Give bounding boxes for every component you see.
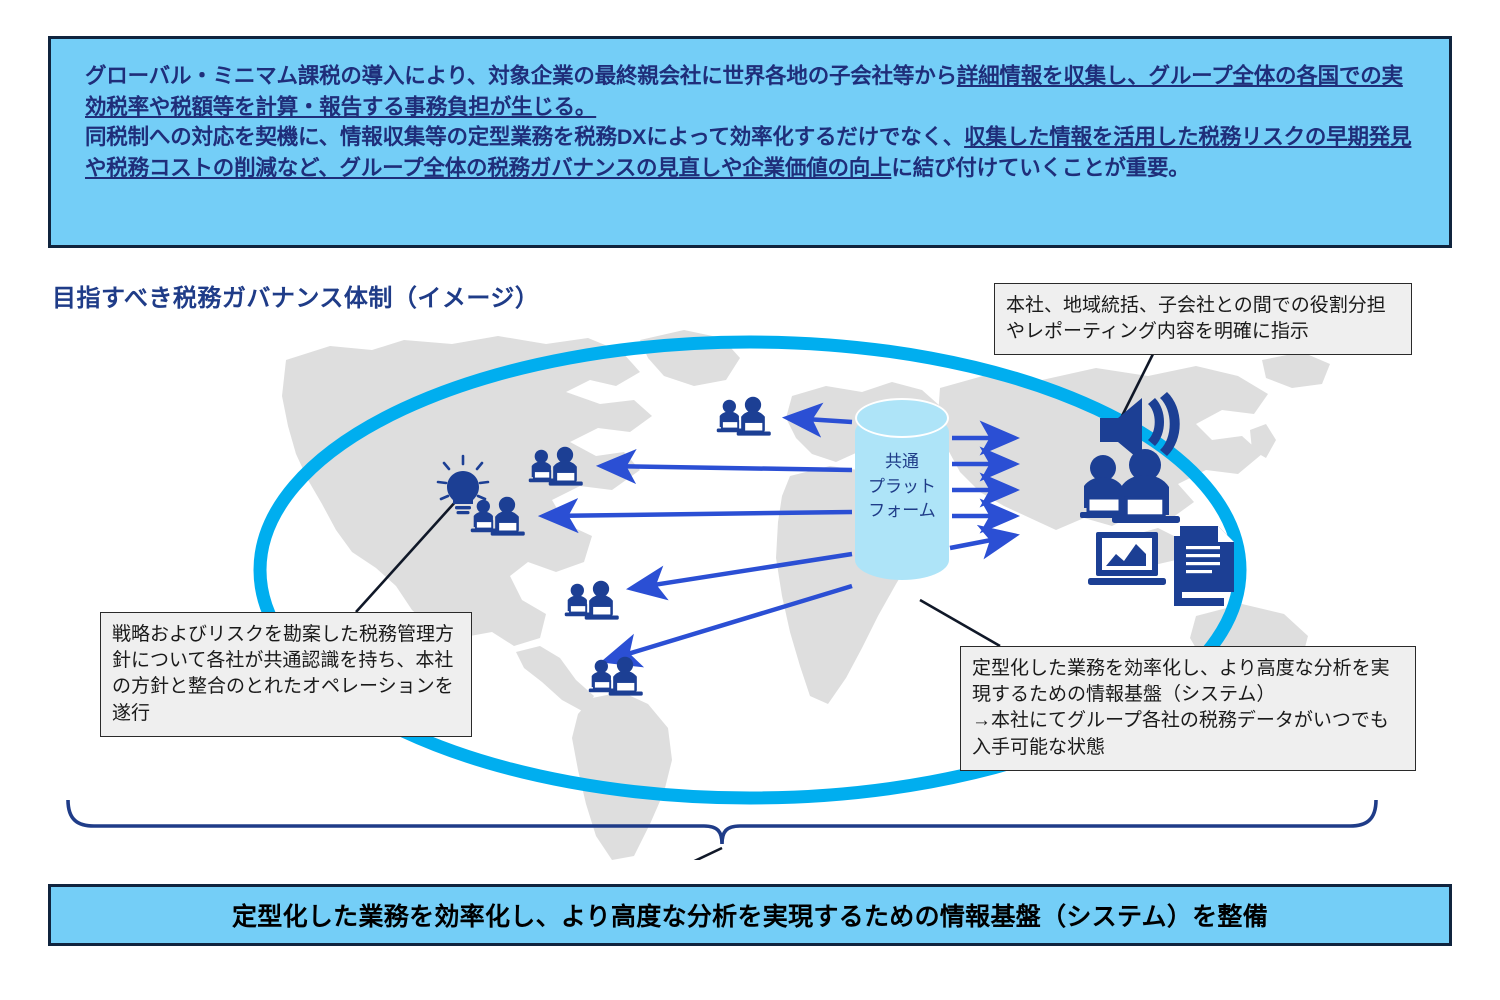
arrow-hq-5 <box>950 536 1012 548</box>
callout-strategy-alignment: 戦略およびリスクを勘案した税務管理方針について各社が共通認識を持ち、本社の方針と… <box>100 612 472 737</box>
summary-box: グローバル・ミニマム課税の導入により、対象企業の最終親会社に世界各地の子会社等か… <box>48 36 1452 248</box>
callout-right-text-line-1: 定型化した業務を効率化し、より高度な分析を実現するための情報基盤（システム） <box>972 656 1404 708</box>
governance-diagram: 共通 プラット フォーム <box>0 300 1500 860</box>
chart-laptop-icon <box>1088 532 1166 585</box>
callout-information-platform: 定型化した業務を効率化し、より高度な分析を実現するための情報基盤（システム） →… <box>960 646 1416 771</box>
summary-paragraph-2: 同税制への対応を契機に、情報収集等の定型業務を税務DXによって効率化するだけでな… <box>85 122 1423 183</box>
callout-hq-text: 本社、地域統括、子会社との間での役割分担やレポーティング内容を明確に指示 <box>1006 293 1400 345</box>
people-at-desk-icon-5 <box>589 657 643 696</box>
brace-to-banner-connector <box>646 848 722 860</box>
people-at-desk-icon-1 <box>717 397 771 436</box>
platform-label-line-3: フォーム <box>855 499 949 524</box>
summary-brace <box>68 800 1376 844</box>
summary-paragraph-1: グローバル・ミニマム課税の導入により、対象企業の最終親会社に世界各地の子会社等か… <box>85 61 1423 122</box>
summary-line-2c: に結び付けていくことが重要。 <box>891 156 1189 180</box>
arrow-to-office-2 <box>604 466 852 470</box>
cylinder-top-ellipse <box>855 398 949 438</box>
document-icon <box>1174 526 1234 606</box>
people-at-desk-icon-4 <box>565 581 619 620</box>
platform-label-line-1: 共通 <box>855 450 949 475</box>
cylinder-label: 共通 プラット フォーム <box>855 450 949 524</box>
common-platform-cylinder: 共通 プラット フォーム <box>855 398 949 594</box>
bottom-banner-text: 定型化した業務を効率化し、より高度な分析を実現するための情報基盤（システム）を整… <box>232 897 1268 933</box>
connector-right-callout <box>920 600 1000 646</box>
bottom-conclusion-banner: 定型化した業務を効率化し、より高度な分析を実現するための情報基盤（システム）を整… <box>48 884 1452 946</box>
callout-right-text-line-2: →本社にてグループ各社の税務データがいつでも入手可能な状態 <box>972 708 1404 760</box>
diagram-canvas <box>0 300 1500 860</box>
platform-label-line-2: プラット <box>855 475 949 500</box>
callout-headquarters-role: 本社、地域統括、子会社との間での役割分担やレポーティング内容を明確に指示 <box>994 283 1412 355</box>
summary-line-1a: グローバル・ミニマム課税の導入により、対象企業の最終親会社に世界各地の子会社等か… <box>85 64 957 88</box>
callout-left-text: 戦略およびリスクを勘案した税務管理方針について各社が共通認識を持ち、本社の方針と… <box>112 622 460 727</box>
summary-line-2a: 同税制への対応を契機に、情報収集等の定型業務を税務DXによって効率化するだけでな… <box>85 125 964 149</box>
